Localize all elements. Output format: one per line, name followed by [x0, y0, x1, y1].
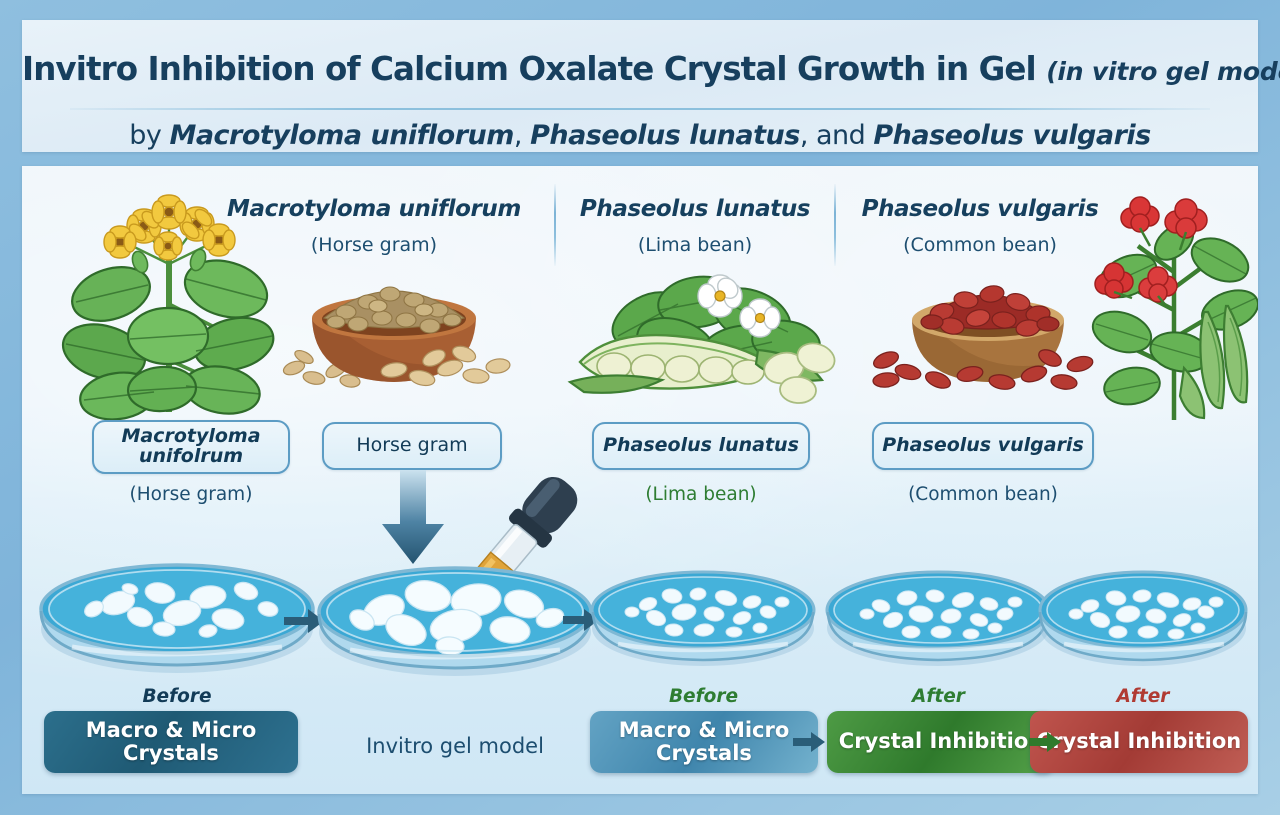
chip-macrotyloma-unifolrum[interactable]: Macrotyloma unifolrum — [92, 420, 290, 474]
chip-phaseolus-vulgaris[interactable]: Phaseolus vulgaris — [872, 422, 1094, 470]
column-divider-1 — [554, 184, 556, 266]
byline-species-2: Phaseolus lunatus — [530, 120, 800, 151]
horse-gram-seed-bowl-icon — [274, 262, 514, 392]
step-3-banner[interactable]: Crystal Inhibition — [827, 711, 1055, 773]
byline-sep-1: , — [514, 120, 530, 151]
horse-gram-plant-icon — [56, 184, 286, 414]
column-divider-2 — [834, 184, 836, 266]
byline-species-3: Phaseolus vulgaris — [873, 120, 1150, 151]
byline-species-1: Macrotyloma uniflorum — [169, 120, 513, 151]
petri-dish-crystals-icon — [32, 551, 322, 681]
petri-dish-crystals-icon-3 — [586, 558, 821, 676]
title-parenthetical-text: (in vitro gel model) — [1046, 57, 1280, 86]
chip-label-0: Macrotyloma unifolrum — [121, 427, 260, 467]
title-divider-rule — [70, 108, 1210, 110]
step-4-banner-label: Crystal Inhibition — [1037, 730, 1241, 753]
species-3-scientific-name: Phaseolus vulgaris — [844, 196, 1116, 222]
petri-dish-large-crystals-icon — [310, 556, 600, 684]
chip-label-2: Phaseolus lunatus — [603, 436, 799, 456]
chip-label-1: Horse gram — [356, 436, 467, 456]
petri-dish-crystals-icon-5 — [1034, 558, 1252, 676]
byline-sep-2: , and — [800, 120, 874, 151]
chip-phaseolus-lunatus[interactable]: Phaseolus lunatus — [592, 422, 810, 470]
step-2-banner-label: Macro & Micro Crystals — [619, 719, 790, 765]
step-4-state-label: After — [1034, 686, 1252, 707]
title-main-text: Invitro Inhibition of Calcium Oxalate Cr… — [22, 50, 1036, 88]
gel-model-caption: Invitro gel model — [310, 734, 600, 758]
chip-caption-0: (Horse gram) — [92, 484, 290, 505]
step-0-banner-label: Macro & Micro Crystals — [86, 719, 257, 765]
step-3-banner-label: Crystal Inhibition — [839, 730, 1043, 753]
page-subtitle: by Macrotyloma uniflorum, Phaseolus luna… — [22, 120, 1258, 151]
byline-prefix: by — [129, 120, 169, 151]
banner-arrow-icon-1 — [793, 731, 825, 753]
title-panel: Invitro Inhibition of Calcium Oxalate Cr… — [22, 20, 1258, 152]
step-3-state-label: After — [821, 686, 1056, 707]
chip-caption-3: (Common bean) — [872, 484, 1094, 505]
species-2-common-name: (Lima bean) — [564, 234, 826, 256]
step-2-banner[interactable]: Macro & Micro Crystals — [590, 711, 818, 773]
common-bean-plant-icon — [1088, 180, 1258, 420]
chip-caption-2: (Lima bean) — [592, 484, 810, 505]
kidney-bean-bowl-icon — [868, 262, 1108, 392]
infographic-poster: Invitro Inhibition of Calcium Oxalate Cr… — [0, 0, 1280, 815]
banner-arrow-icon-2 — [1029, 731, 1061, 753]
page-title: Invitro Inhibition of Calcium Oxalate Cr… — [22, 50, 1258, 88]
species-2-scientific-name: Phaseolus lunatus — [564, 196, 826, 222]
step-4-banner[interactable]: Crystal Inhibition — [1030, 711, 1248, 773]
chip-label-3: Phaseolus vulgaris — [882, 436, 1084, 456]
main-content-panel: Macrotyloma uniflorum (Horse gram) Phase… — [22, 166, 1258, 794]
step-0-state-label: Before — [32, 686, 322, 707]
petri-dish-crystals-icon-4 — [821, 558, 1056, 676]
step-0-banner[interactable]: Macro & Micro Crystals — [44, 711, 298, 773]
species-3-common-name: (Common bean) — [844, 234, 1116, 256]
lima-bean-pod-icon — [570, 258, 835, 398]
step-2-state-label: Before — [586, 686, 821, 707]
